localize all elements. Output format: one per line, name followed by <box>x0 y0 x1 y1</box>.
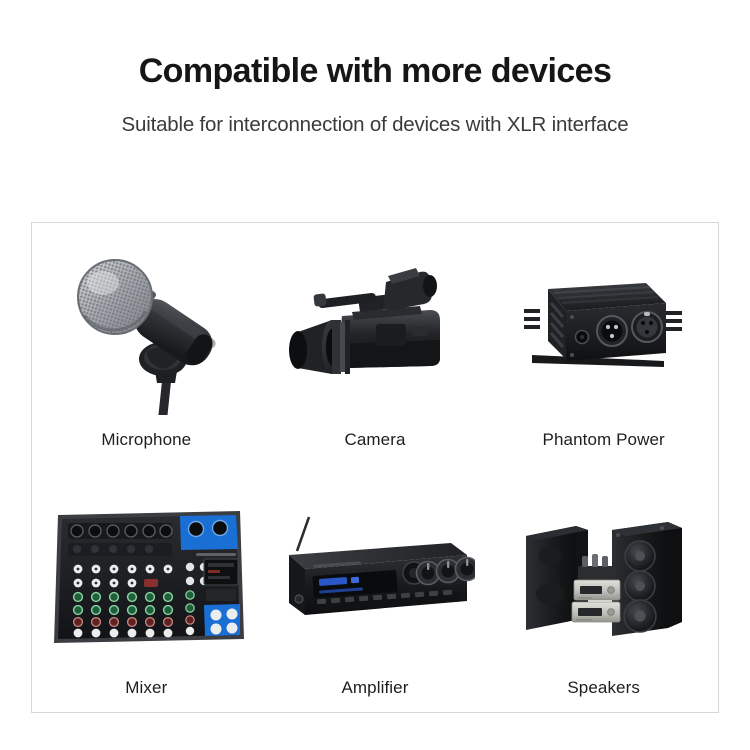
mixer-line-inputs <box>68 543 172 556</box>
device-cell-speakers: Speakers <box>489 468 718 713</box>
promo-page: Compatible with more devices Suitable fo… <box>0 0 750 750</box>
xlr-male-connector <box>597 316 627 346</box>
hifi-component-bottom <box>572 602 620 622</box>
hifi-tube-amp <box>578 554 614 580</box>
device-label: Speakers <box>567 678 640 712</box>
device-cell-phantom-power: Phantom Power <box>489 223 718 468</box>
speakers-thumbnail <box>489 468 718 679</box>
microphone-icon <box>51 243 241 415</box>
mixer-effects-panel <box>204 559 238 601</box>
camera-thumbnail <box>261 223 490 430</box>
page-subtitle: Suitable for interconnection of devices … <box>0 113 750 137</box>
phantom-dc-jack <box>575 331 588 344</box>
device-cell-camera: Camera <box>261 223 490 468</box>
device-label: Amplifier <box>341 678 408 712</box>
device-cell-amplifier: Amplifier <box>261 468 490 713</box>
mixer-brand-mark <box>196 553 236 556</box>
phantom-power-icon <box>514 269 694 389</box>
amplifier-icon <box>275 511 475 641</box>
microphone-thumbnail <box>32 223 261 430</box>
phantom-power-thumbnail <box>489 223 718 430</box>
speaker-drivers <box>624 541 656 632</box>
device-label: Phantom Power <box>543 430 665 468</box>
speaker-right <box>612 522 682 636</box>
mixer-thumbnail <box>32 468 261 679</box>
amplifier-knobs <box>416 557 475 584</box>
device-cell-microphone: Microphone <box>32 223 261 468</box>
hifi-component-top <box>574 580 620 600</box>
device-label: Microphone <box>101 430 191 468</box>
phantom-screw <box>570 315 574 319</box>
device-cell-mixer: Mixer <box>32 468 261 713</box>
speakers-icon <box>516 508 692 644</box>
amplifier-antenna <box>297 517 309 551</box>
amplifier-thumbnail <box>261 468 490 679</box>
device-label: Mixer <box>125 678 167 712</box>
device-label: Camera <box>344 430 405 468</box>
mic-grille <box>78 260 152 334</box>
device-grid-card: Microphone <box>31 222 719 713</box>
camcorder-icon <box>280 254 470 404</box>
camera-lens <box>289 320 350 374</box>
header: Compatible with more devices Suitable fo… <box>0 0 750 137</box>
amplifier-power-button <box>295 595 303 603</box>
camera-viewfinder <box>384 268 437 310</box>
audio-mixer-icon <box>44 497 249 655</box>
device-grid: Microphone <box>32 223 718 712</box>
phantom-screw <box>570 353 574 357</box>
xlr-female-socket <box>632 312 662 342</box>
camera-body <box>338 310 440 368</box>
page-title: Compatible with more devices <box>0 52 750 91</box>
